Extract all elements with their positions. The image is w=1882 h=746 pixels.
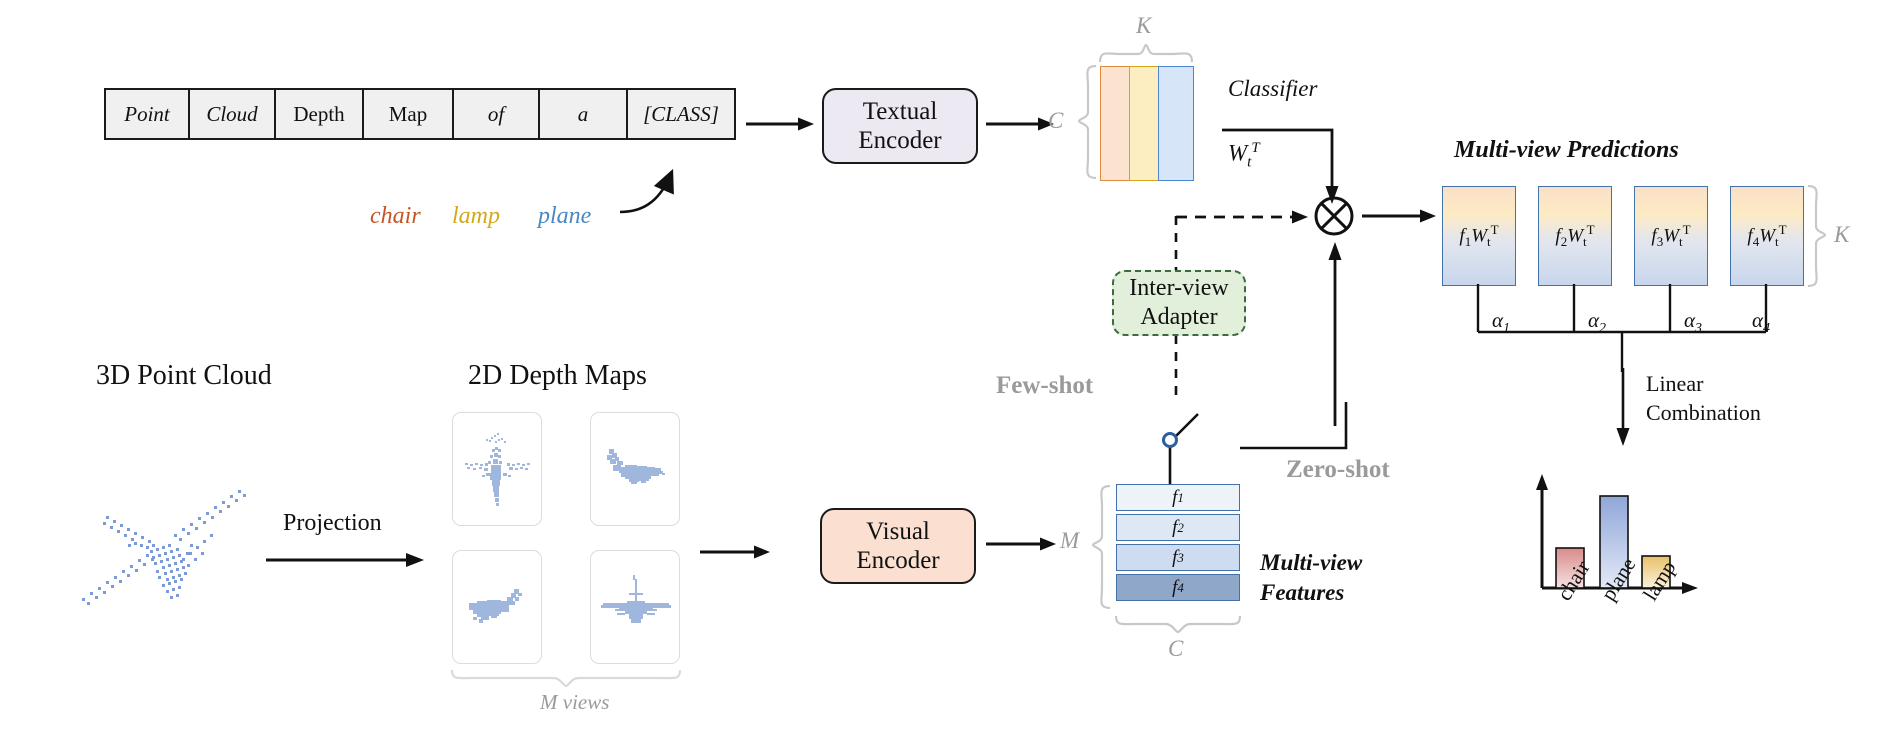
- prompt-token-3: Map: [364, 90, 454, 138]
- alpha-sym-4: α: [1752, 308, 1763, 332]
- dashed-arrow-to-multiply-icon: [1176, 205, 1316, 229]
- visual-encoder-line1: Visual: [866, 517, 930, 547]
- prompt-token-class: [CLASS]: [628, 90, 734, 138]
- depth-map-thumb-3[interactable]: [452, 550, 542, 664]
- linear-combination-line2: Combination: [1646, 399, 1761, 428]
- point-cloud-3d: [70, 440, 290, 620]
- few-shot-label: Few-shot: [996, 372, 1093, 400]
- prompt-token-5: a: [540, 90, 628, 138]
- prediction-box-1: f1WtT: [1442, 186, 1516, 286]
- linear-combination-line1: Linear: [1646, 370, 1761, 399]
- adapter-line2: Adapter: [1140, 303, 1217, 332]
- prompt-token-2: Depth: [276, 90, 364, 138]
- classifier-brace-left-icon: [1076, 64, 1098, 182]
- classifier-brace-top-icon: [1098, 42, 1194, 64]
- class-word-plane: plane: [538, 203, 591, 230]
- inter-view-adapter-box[interactable]: Inter-view Adapter: [1112, 270, 1246, 336]
- prompt-token-4: of: [454, 90, 540, 138]
- projection-label: Projection: [283, 510, 382, 537]
- linear-combination-label: Linear Combination: [1646, 370, 1761, 427]
- depth-map-thumb-2[interactable]: [590, 412, 680, 526]
- feature-sub-1: 1: [1177, 490, 1184, 506]
- features-caption: Multi-view Features: [1260, 548, 1362, 609]
- visual-encoder-line2: Encoder: [856, 546, 939, 576]
- prompt-token-1: Cloud: [190, 90, 276, 138]
- depth-map-thumb-1[interactable]: [452, 412, 542, 526]
- classifier-matrix: [1100, 66, 1194, 181]
- pred-w-sup-1: T: [1491, 222, 1499, 237]
- feature-sub-4: 4: [1177, 580, 1184, 596]
- projection-arrow-icon: [266, 548, 426, 572]
- alpha-sub-3: 3: [1695, 321, 1702, 336]
- features-caption-line2: Features: [1260, 578, 1362, 608]
- pred-w-sup-2: T: [1587, 222, 1595, 237]
- mode-switch-icon[interactable]: [1150, 402, 1360, 492]
- features-brace-left-icon: [1090, 484, 1112, 612]
- classifier-column-1: [1129, 66, 1158, 181]
- pred-w-3: W: [1663, 225, 1679, 246]
- alpha-sym-1: α: [1492, 308, 1503, 332]
- multiply-operator-icon: [1312, 194, 1356, 238]
- arrow-prompt-to-textual-encoder-icon: [746, 112, 816, 136]
- pred-w-2: W: [1567, 225, 1583, 246]
- class-curved-arrow-icon: [610, 150, 740, 230]
- predictions-brace-right-icon: [1806, 184, 1828, 288]
- features-brace-bottom-icon: [1114, 614, 1242, 634]
- m-views-label: M views: [540, 690, 609, 715]
- prediction-box-3: f3WtT: [1634, 186, 1708, 286]
- feature-row-2: f2: [1116, 514, 1240, 541]
- classifier-label: Classifier: [1228, 76, 1317, 102]
- classifier-column-0: [1100, 66, 1129, 181]
- pred-w-4: W: [1759, 225, 1775, 246]
- classifier-label-c: C: [1048, 108, 1063, 134]
- adapter-line1: Inter-view: [1129, 274, 1228, 303]
- alpha-3: α3: [1684, 308, 1702, 337]
- point-cloud-heading: 3D Point Cloud: [96, 360, 272, 392]
- predictions-label-k: K: [1834, 222, 1849, 248]
- textual-encoder-line1: Textual: [863, 97, 938, 127]
- features-label-m: M: [1060, 528, 1079, 554]
- alpha-sub-1: 1: [1503, 321, 1510, 336]
- classifier-column-2: [1158, 66, 1194, 181]
- arrow-depthmaps-to-visual-encoder-icon: [700, 540, 774, 564]
- alpha-sub-2: 2: [1599, 321, 1606, 336]
- depth-maps-heading: 2D Depth Maps: [468, 360, 647, 392]
- predictions-title: Multi-view Predictions: [1454, 137, 1679, 164]
- pred-w-sup-4: T: [1779, 222, 1787, 237]
- alpha-sub-4: 4: [1763, 321, 1770, 336]
- arrow-textual-encoder-to-classifier-icon: [986, 112, 1056, 136]
- class-word-lamp: lamp: [452, 203, 500, 230]
- feature-row-4: f4: [1116, 574, 1240, 601]
- alpha-sym-2: α: [1588, 308, 1599, 332]
- feature-row-1: f1: [1116, 484, 1240, 511]
- feature-sub-2: 2: [1177, 520, 1184, 536]
- prediction-bar-chart: chair plane lamp: [1528, 470, 1718, 640]
- feature-sub-3: 3: [1177, 550, 1184, 566]
- alpha-2: α2: [1588, 308, 1606, 337]
- textual-encoder-box[interactable]: Textual Encoder: [822, 88, 978, 164]
- multi-view-feature-stack: f1 f2 f3 f4: [1116, 484, 1240, 601]
- prediction-box-2: f2WtT: [1538, 186, 1612, 286]
- alpha-4: α4: [1752, 308, 1770, 337]
- prompt-token-table: Point Cloud Depth Map of a [CLASS]: [104, 88, 736, 140]
- features-caption-line1: Multi-view: [1260, 548, 1362, 578]
- arrow-multiply-to-predictions-icon: [1362, 204, 1442, 228]
- features-label-c: C: [1168, 636, 1183, 662]
- textual-encoder-line2: Encoder: [858, 126, 941, 156]
- prediction-box-4: f4WtT: [1730, 186, 1804, 286]
- pred-w-sup-3: T: [1683, 222, 1691, 237]
- class-word-chair: chair: [370, 203, 421, 230]
- m-views-brace-icon: [450, 668, 682, 688]
- arrow-zeroshot-up-icon: [1322, 240, 1348, 426]
- alpha-1: α1: [1492, 308, 1510, 337]
- visual-encoder-box[interactable]: Visual Encoder: [820, 508, 976, 584]
- depth-map-thumb-4[interactable]: [590, 550, 680, 664]
- arrow-visual-encoder-to-features-icon: [986, 532, 1060, 556]
- alpha-sym-3: α: [1684, 308, 1695, 332]
- classifier-label-k: K: [1136, 13, 1151, 39]
- linear-combination-arrow-icon: [1612, 368, 1636, 450]
- feature-row-3: f3: [1116, 544, 1240, 571]
- pred-w-1: W: [1471, 225, 1487, 246]
- prompt-token-0: Point: [106, 90, 190, 138]
